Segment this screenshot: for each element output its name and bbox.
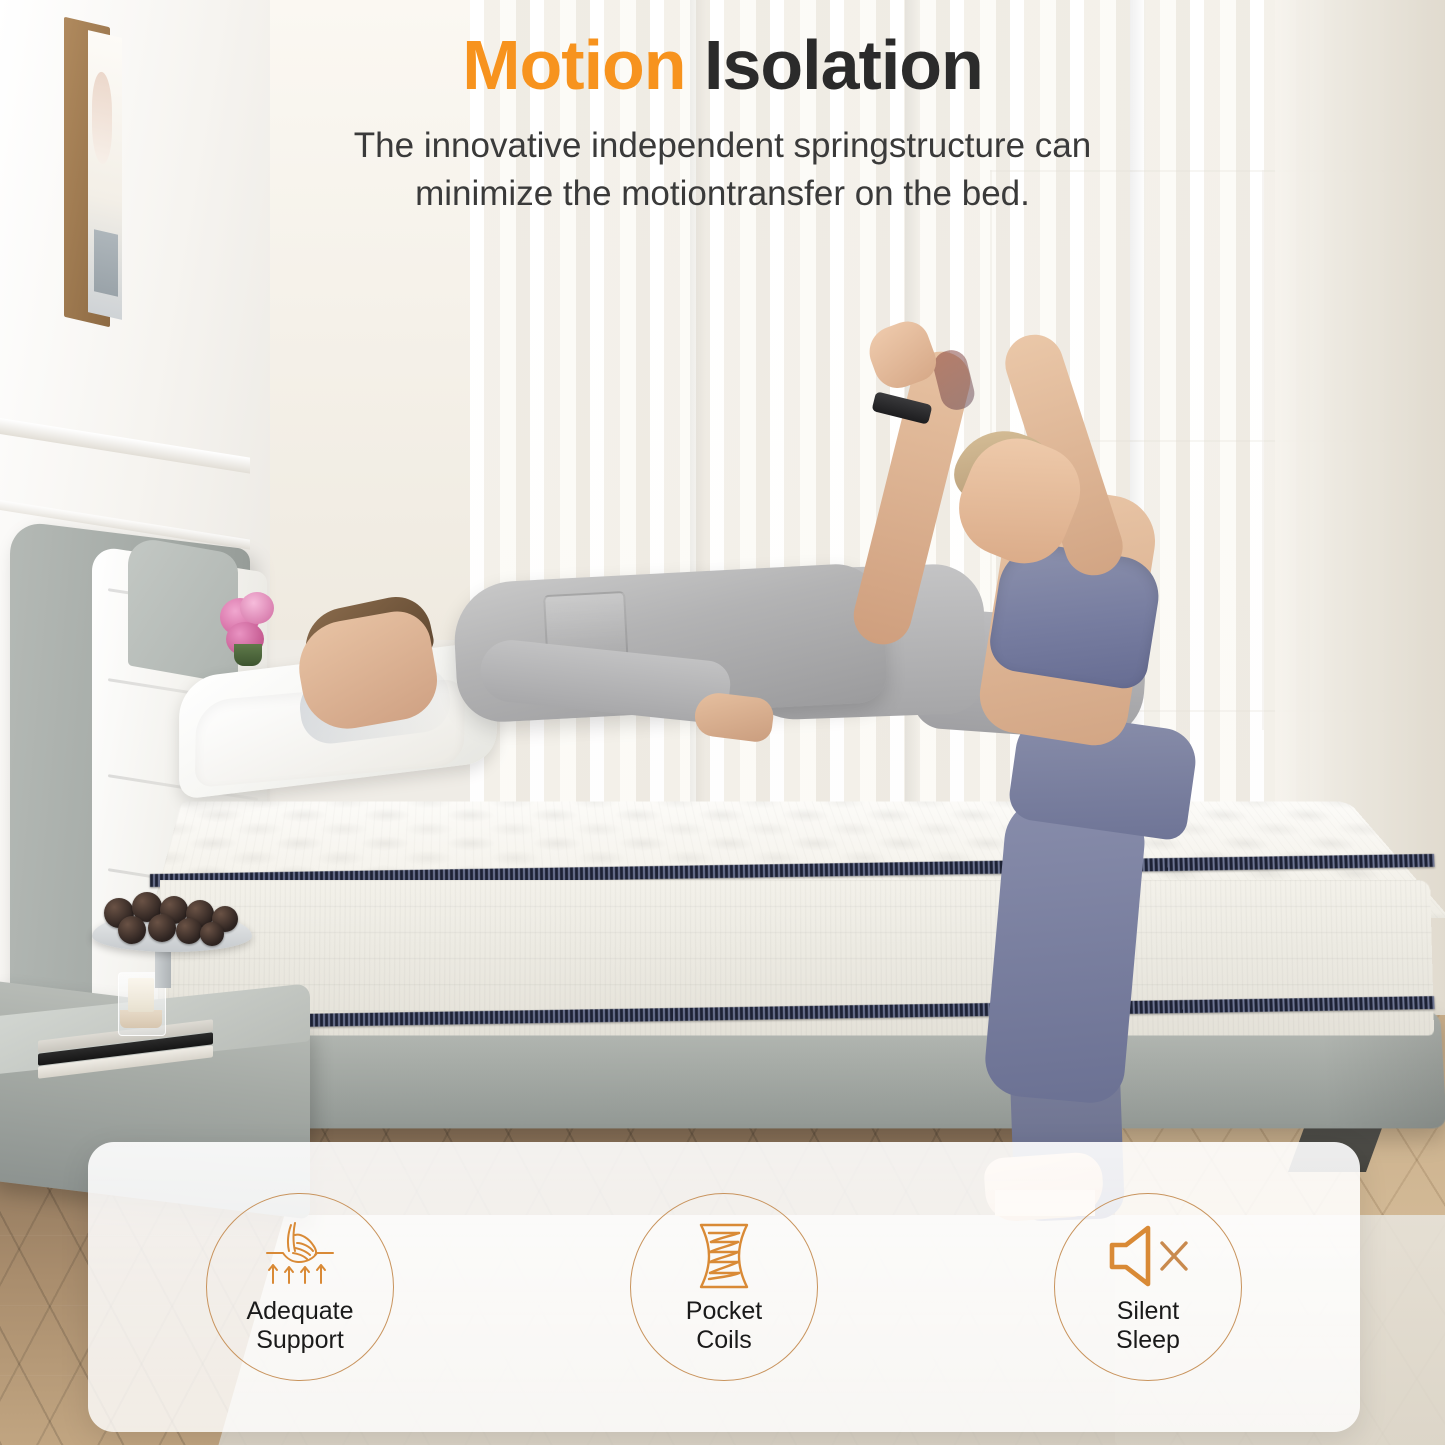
flower-leaves	[234, 644, 262, 666]
woman-upper-leg	[982, 794, 1148, 1105]
wall-art-shape	[94, 229, 118, 297]
feature-label: Silent Sleep	[1116, 1297, 1180, 1355]
hand-on-mattress-support-icon	[261, 1219, 339, 1293]
feature-badge-silent-sleep[interactable]: Silent Sleep	[1054, 1193, 1242, 1381]
feature-badge-pocket-coils[interactable]: Pocket Coils	[630, 1193, 818, 1381]
feature-label: Adequate Support	[246, 1297, 353, 1355]
wall-art-shape	[92, 70, 112, 167]
feature-label: Pocket Coils	[686, 1297, 762, 1355]
tray-stand	[155, 946, 171, 988]
peony-flowers	[218, 592, 284, 664]
product-marketing-image: Motion Isolation The innovative independ…	[0, 0, 1445, 1445]
feature-badge-adequate-support[interactable]: Adequate Support	[206, 1193, 394, 1381]
man-hand	[693, 690, 776, 743]
muted-speaker-icon	[1106, 1219, 1190, 1293]
pocket-coil-spring-icon	[693, 1219, 755, 1293]
feature-badges-panel: Adequate Support Pocket Coils	[88, 1142, 1360, 1432]
flower-petal	[240, 592, 274, 624]
woman-stretching	[845, 300, 1245, 1180]
